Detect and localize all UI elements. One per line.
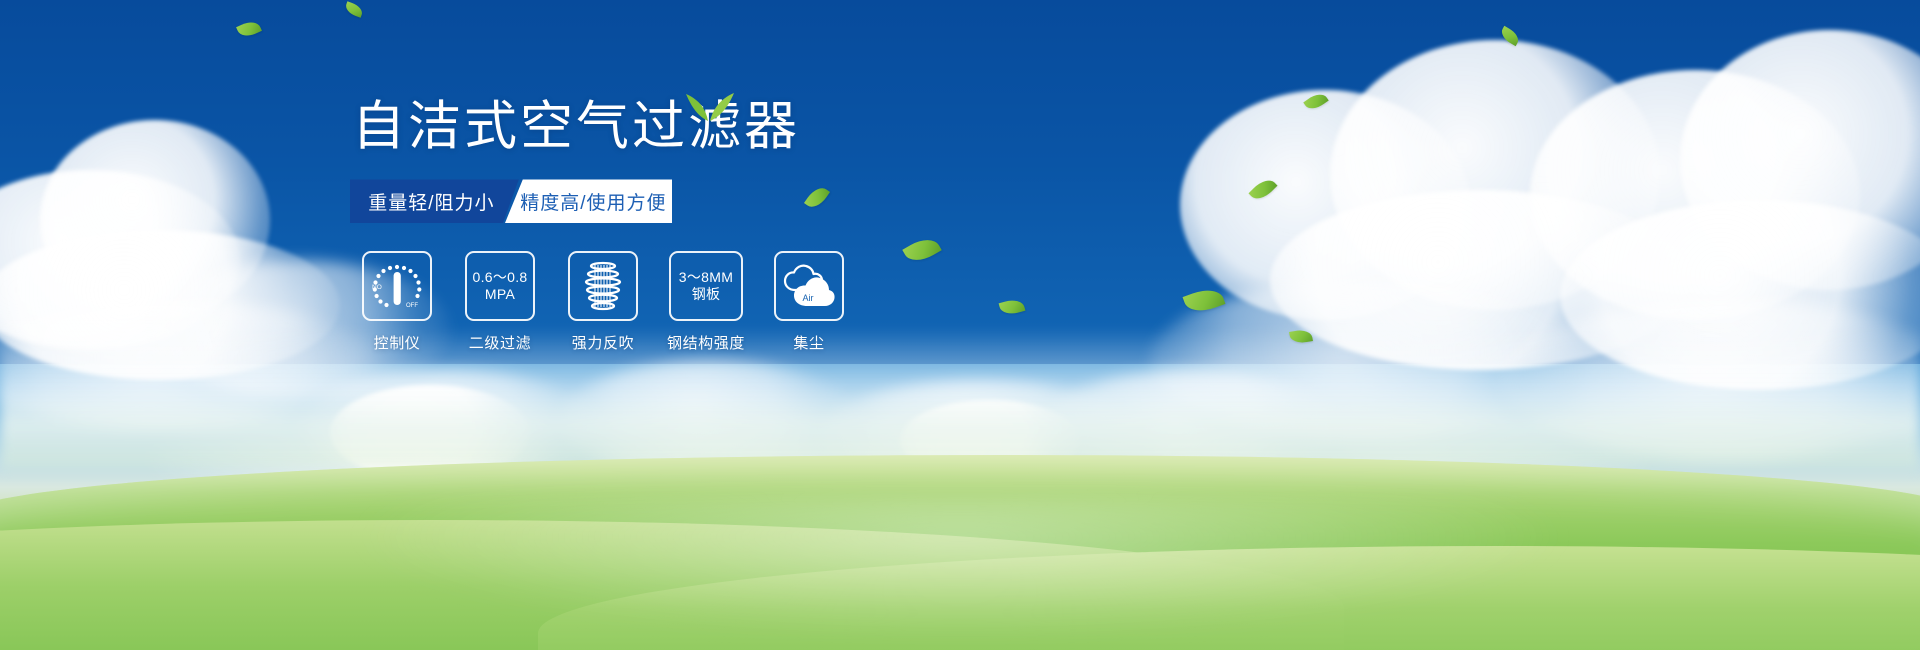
pressure-value-bottom: MPA xyxy=(485,286,515,303)
tagline-tab-secondary[interactable]: 精度高/使用方便 xyxy=(505,179,672,223)
steel-value-top: 3～8MM xyxy=(679,269,733,286)
sky-background xyxy=(0,0,1920,364)
feature-icon-box: 0.6～0.8 MPA xyxy=(465,251,535,321)
feature-icon-box: 3～8MM 钢板 xyxy=(669,251,743,321)
feature-label: 钢结构强度 xyxy=(667,332,745,353)
steel-value-bottom: 钢板 xyxy=(692,286,721,303)
banner-content: 自洁式空气过滤器 重量轻/阻力小 精度高/使用方便 xyxy=(350,96,910,353)
horizon-haze xyxy=(0,328,1920,468)
pressure-value-top: 0.6～0.8 xyxy=(472,269,527,286)
feature-list: NO OFF 控制仪 0.6～0.8 MPA 二级过滤 xyxy=(354,251,910,353)
air-cloud-icon: Air xyxy=(781,264,837,308)
tagline-tabs: 重量轻/阻力小 精度高/使用方便 xyxy=(350,179,672,223)
hero-banner: 自洁式空气过滤器 重量轻/阻力小 精度高/使用方便 xyxy=(0,0,1920,650)
svg-text:NO: NO xyxy=(372,284,382,291)
page-title: 自洁式空气过滤器 xyxy=(352,96,910,157)
sprout-leaves-icon xyxy=(682,88,736,122)
feature-item-backblow[interactable]: 强力反吹 xyxy=(560,251,646,353)
feature-label: 强力反吹 xyxy=(572,332,634,353)
control-dial-icon: NO OFF xyxy=(369,261,425,311)
feature-item-filtration[interactable]: 0.6～0.8 MPA 二级过滤 xyxy=(457,251,543,353)
feature-label: 二级过滤 xyxy=(469,332,531,353)
tagline-tab-primary[interactable]: 重量轻/阻力小 xyxy=(350,179,519,223)
feature-item-steel[interactable]: 3～8MM 钢板 钢结构强度 xyxy=(663,251,749,353)
feature-item-control[interactable]: NO OFF 控制仪 xyxy=(354,251,440,353)
svg-text:Air: Air xyxy=(803,293,814,303)
feature-label: 控制仪 xyxy=(374,332,421,353)
feature-icon-box xyxy=(568,251,638,321)
feature-label: 集尘 xyxy=(793,332,824,353)
filter-coil-icon xyxy=(580,260,626,312)
feature-item-dust[interactable]: Air 集尘 xyxy=(766,251,852,353)
grass-highlight xyxy=(346,494,1575,637)
feature-icon-box: Air xyxy=(774,251,844,321)
feature-icon-box: NO OFF xyxy=(362,251,432,321)
svg-text:OFF: OFF xyxy=(406,303,418,309)
